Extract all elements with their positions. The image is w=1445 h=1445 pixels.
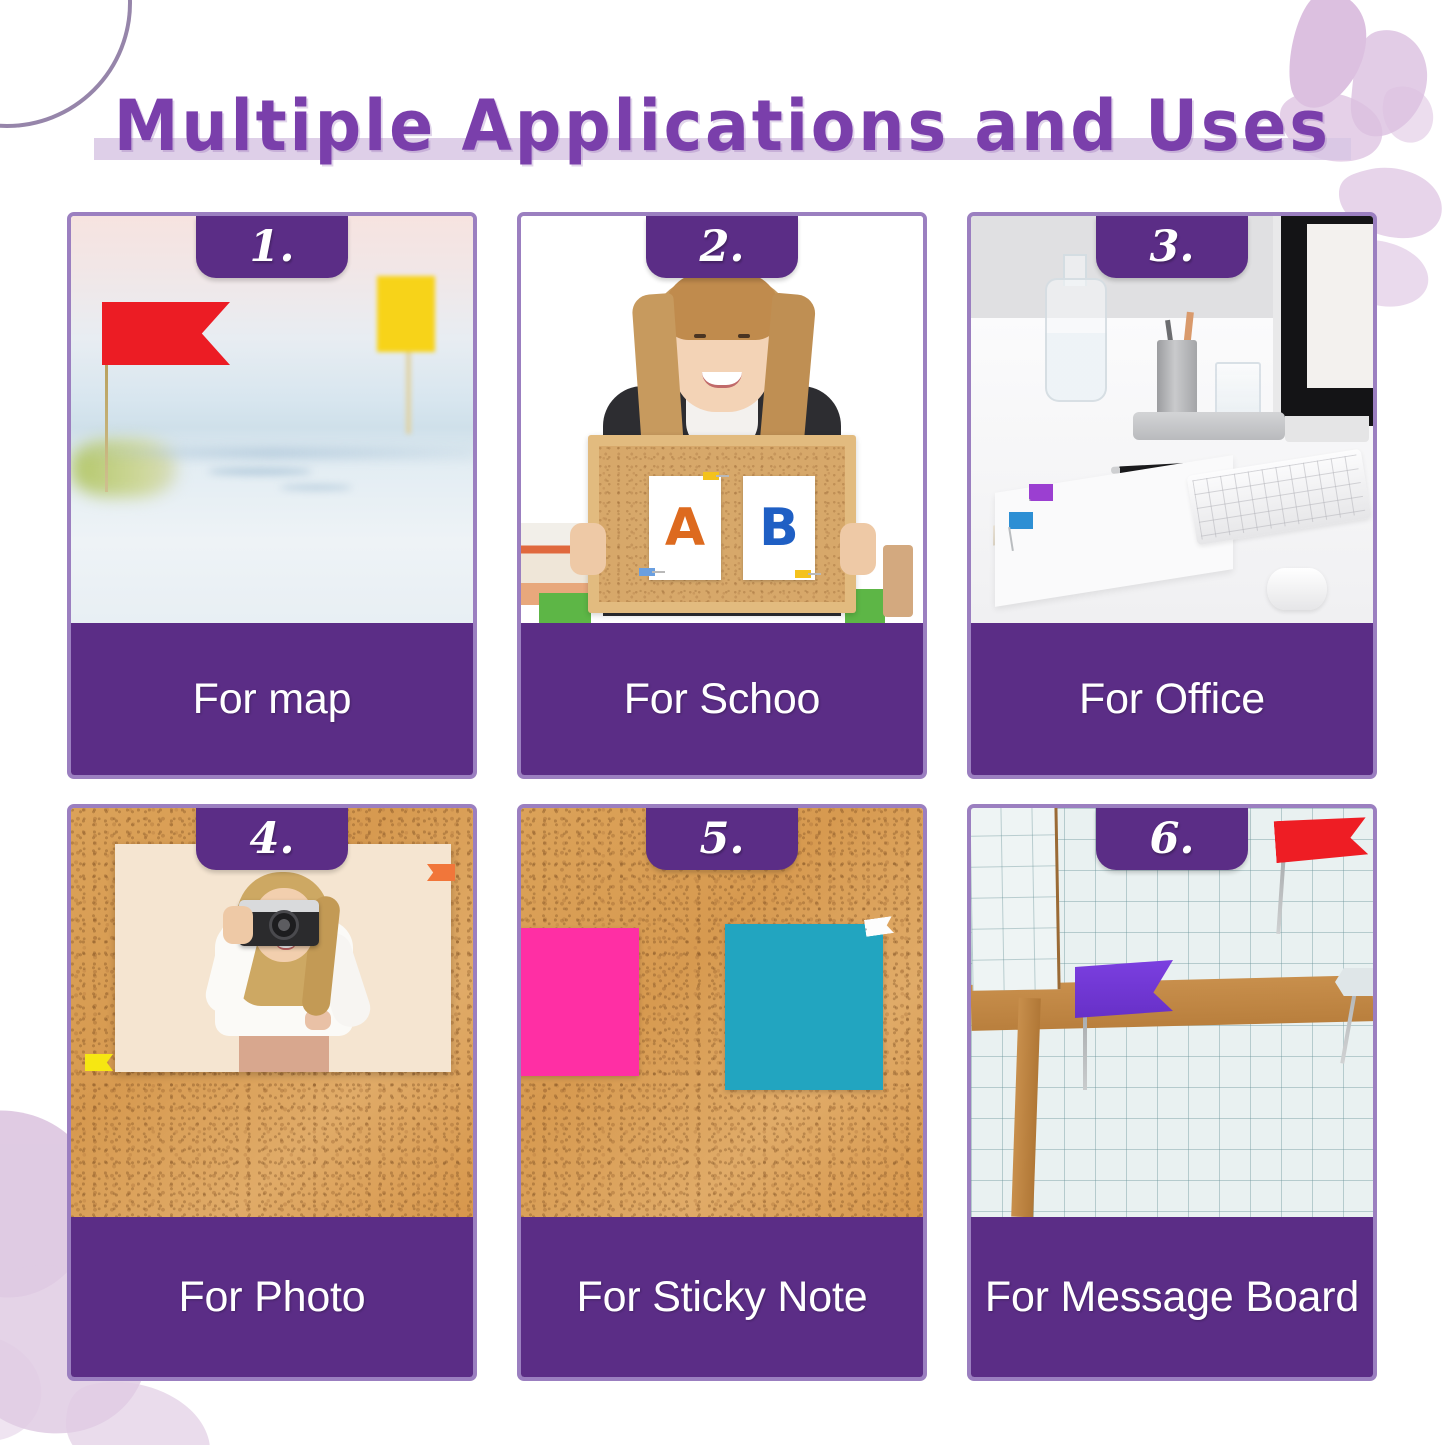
monitor-stand (1285, 416, 1369, 442)
yellow-flag-pin-icon (795, 570, 811, 578)
student-eye-left (694, 334, 706, 338)
card-2-number-badge: 2. (646, 216, 798, 278)
application-card-2[interactable]: A B 2. For Schoo (517, 212, 927, 779)
card-3-number-badge: 3. (1096, 216, 1248, 278)
card-4-number: 4. (250, 818, 295, 861)
yellow-flag-needle (406, 348, 411, 434)
monitor-icon (1273, 216, 1373, 426)
camera-lens-icon (269, 910, 299, 940)
pinned-photo (115, 844, 451, 1072)
student-hand-left (570, 523, 606, 575)
sticky-note-teal (725, 924, 883, 1090)
letter-card-a: A (649, 476, 721, 580)
sticky-note-pink (521, 928, 639, 1076)
page-title: Multiple Applications and Uses (114, 86, 1331, 166)
red-flag-pin-icon (102, 302, 230, 365)
card-3-number: 3. (1150, 226, 1195, 269)
card-6-label: For Message Board (971, 1217, 1373, 1377)
letter-card-b: B (743, 476, 815, 580)
student-hair-front (663, 272, 781, 340)
blue-flag-pin-icon (639, 568, 655, 576)
card-4-label: For Photo (71, 1217, 473, 1377)
application-card-1[interactable]: 1. For map (67, 212, 477, 779)
card-6-image: 6. (971, 808, 1373, 1217)
card-5-label: For Sticky Note (521, 1217, 923, 1377)
purple-flag-pin-icon (1029, 484, 1053, 501)
monitor-screen (1307, 224, 1373, 388)
water-ripple (208, 468, 313, 475)
water-ripple (280, 485, 352, 490)
water-horizon (71, 448, 473, 458)
grid-paper-sheet (971, 808, 1061, 991)
pen-cup (1157, 340, 1197, 422)
card-5-image: 5. (521, 808, 923, 1217)
card-1-number-badge: 1. (196, 216, 348, 278)
card-4-number-badge: 4. (196, 808, 348, 870)
card-1-label: For map (71, 623, 473, 775)
photo-subject-hand-on-camera (223, 906, 253, 944)
mouse-icon (1267, 568, 1327, 610)
cork-board-surface: A B (599, 446, 845, 602)
chair-back (883, 545, 913, 617)
card-1-image: 1. (71, 216, 473, 623)
application-card-5[interactable]: 5. For Sticky Note (517, 804, 927, 1381)
applications-grid: 1. For map (67, 212, 1385, 1381)
cork-board-frame: A B (588, 435, 856, 613)
yellow-flag-pin-icon (703, 472, 719, 480)
card-2-label: For Schoo (521, 623, 923, 775)
card-3-label: For Office (971, 623, 1373, 775)
card-6-number: 6. (1150, 818, 1195, 861)
card-3-image: 3. (971, 216, 1373, 623)
card-5-number: 5. (700, 818, 745, 861)
yellow-flag-pin-icon (377, 276, 435, 352)
card-5-number-badge: 5. (646, 808, 798, 870)
purple-flag-needle (1083, 1012, 1087, 1090)
water-carafe (1045, 278, 1107, 402)
card-2-image: A B 2. (521, 216, 923, 623)
page-header: Multiple Applications and Uses (0, 86, 1445, 176)
card-4-image: 4. (71, 808, 473, 1217)
card-2-number: 2. (700, 226, 745, 269)
application-card-6[interactable]: 6. For Message Board (967, 804, 1377, 1381)
application-card-3[interactable]: 3. For Office (967, 212, 1377, 779)
card-6-number-badge: 6. (1096, 808, 1248, 870)
student-eye-right (738, 334, 750, 338)
student-hand-right (840, 523, 876, 575)
red-flag-needle (105, 362, 108, 492)
chair-leg-left (539, 593, 591, 623)
blue-flag-pin-icon (1009, 512, 1033, 529)
card-1-number: 1. (250, 226, 295, 269)
application-card-4[interactable]: 4. For Photo (67, 804, 477, 1381)
desk-tray (1133, 412, 1285, 440)
